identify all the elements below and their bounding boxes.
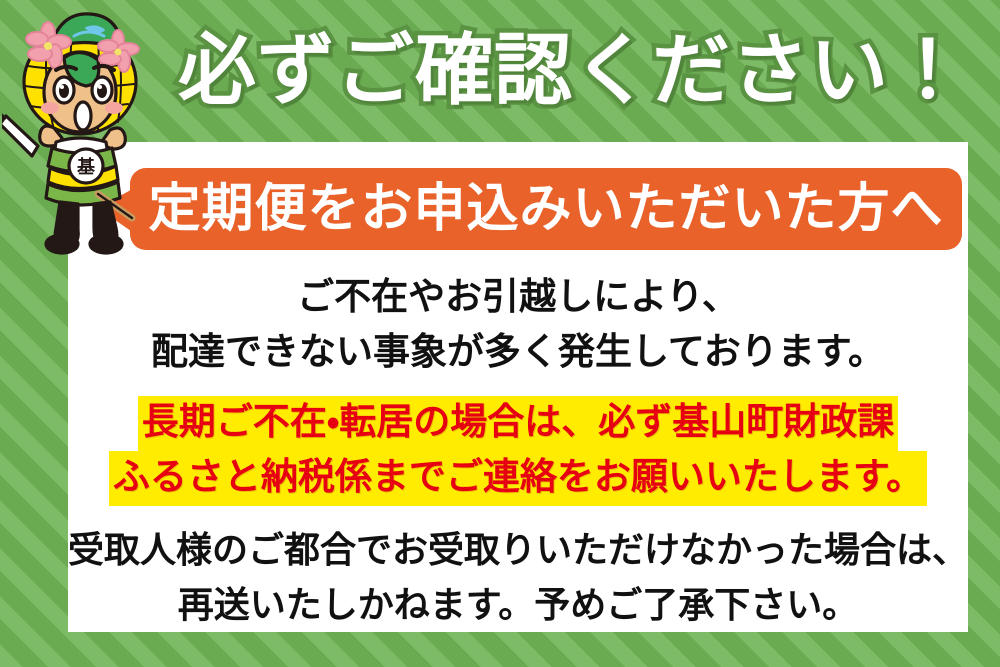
body-line-3: 受取人様のご都合でお受取りいただけなかった場合は、	[68, 533, 968, 569]
highlight-line-1: 長期ご不在・転居の場合は、必ず基山町財政課	[68, 403, 968, 440]
body-line-1: ご不在やお引越しにより、	[68, 278, 968, 315]
notice-banner: 必ずご確認ください！ 定期便をお申込みいただいた方へ ご不在やお引越しにより、 …	[0, 0, 1000, 667]
highlight-text-1: 長期ご不在・転居の場合は、必ず基山町財政課	[140, 398, 897, 449]
mascot-illustration-icon: 基	[2, 6, 172, 256]
callout-banner: 定期便をお申込みいただいた方へ	[130, 168, 962, 250]
body-line-4: 再送いたしかねます。予めご了承下さい。	[68, 588, 968, 624]
body-line-2: 配達できない事象が多く発生しております。	[68, 333, 968, 370]
highlight-line-2: ふるさと納税係までご連絡をお願いいたします。	[68, 458, 968, 495]
highlight-text-2: ふるさと納税係までご連絡をお願いいたします。	[111, 453, 925, 504]
page-title: 必ずご確認ください！	[178, 16, 978, 126]
svg-text:基: 基	[76, 156, 96, 178]
callout-label: 定期便をお申込みいただいた方へ	[148, 183, 943, 235]
